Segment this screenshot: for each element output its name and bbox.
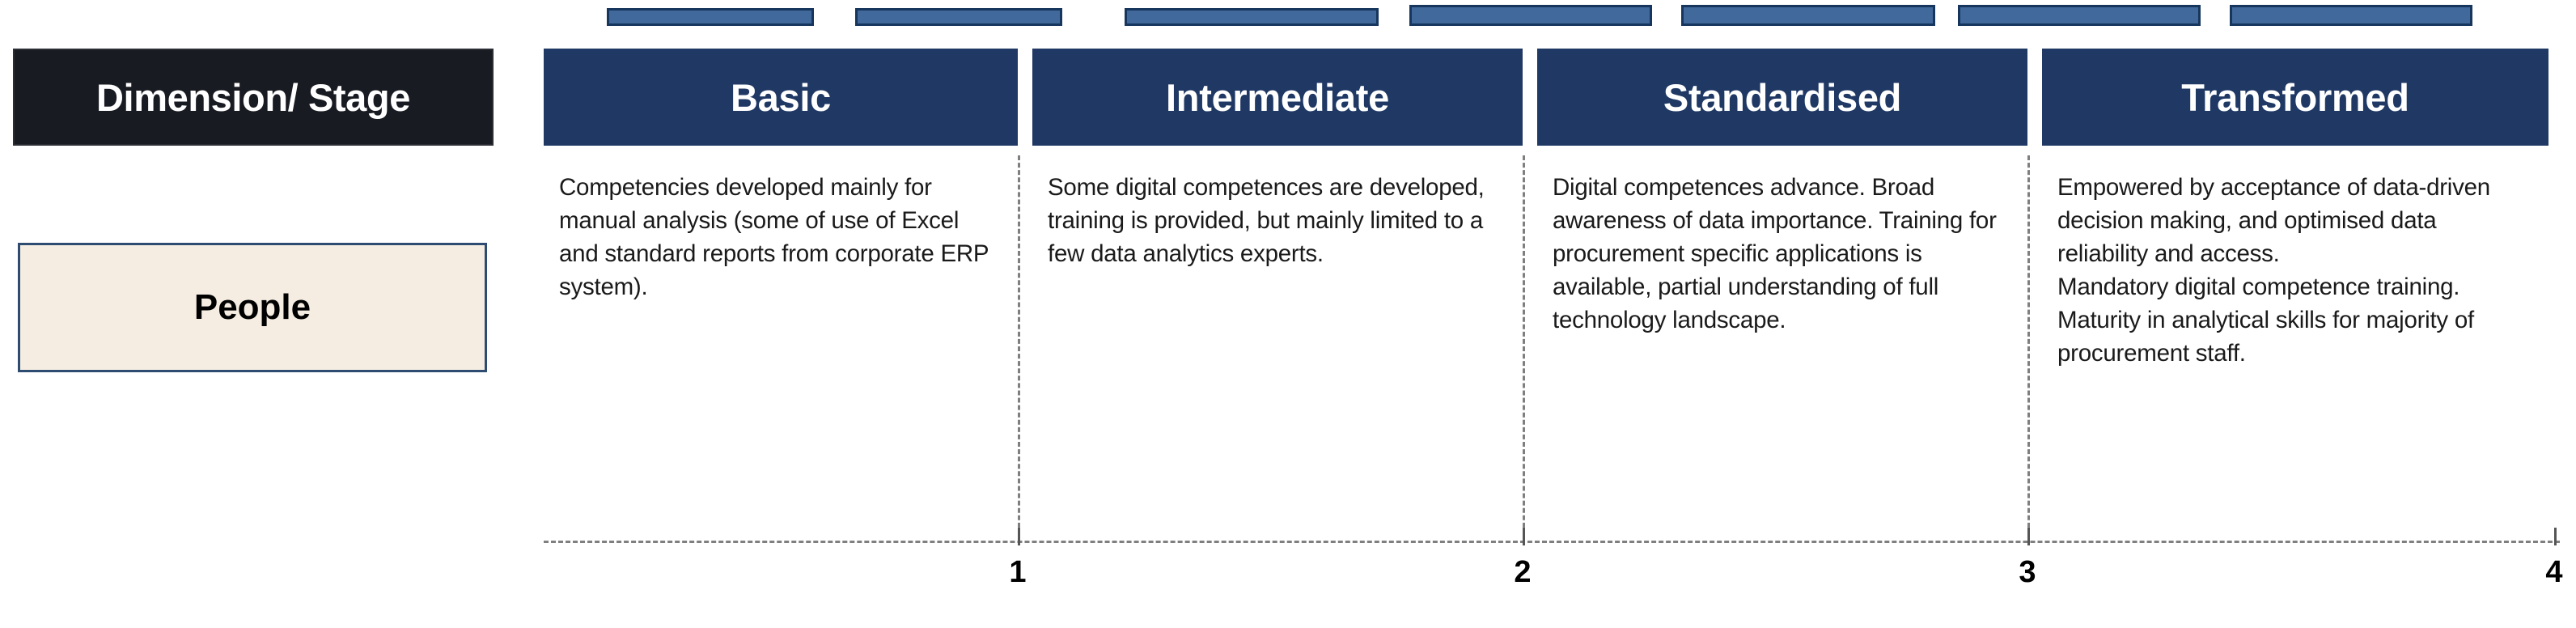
axis-tick-mark [1018, 528, 1020, 545]
dimension-stage-header-label: Dimension/ Stage [96, 75, 410, 120]
progress-bar-segment [855, 8, 1062, 26]
stage-column-divider [2027, 155, 2030, 542]
maturity-matrix: BasicCompetencies developed mainly for m… [544, 49, 2557, 542]
stage-column-intermediate: IntermediateSome digital competences are… [1032, 49, 1523, 542]
axis-tick-mark [1523, 528, 1525, 545]
stage-header-intermediate[interactable]: Intermediate [1032, 49, 1523, 146]
stage-cell-text: Competencies developed mainly for manual… [559, 174, 989, 300]
stage-cell-intermediate: Some digital competences are developed, … [1032, 155, 1523, 542]
dimension-row-people: People [18, 243, 487, 372]
progress-bar-segment [1409, 5, 1652, 26]
dimension-stage-header: Dimension/ Stage [13, 49, 494, 146]
axis-tick-label: 2 [1514, 555, 1531, 590]
stage-header-transformed[interactable]: Transformed [2042, 49, 2548, 146]
stage-cell-text: Digital competences advance. Broad aware… [1553, 174, 1997, 333]
axis-tick-label: 3 [2019, 555, 2036, 590]
progress-bar-segment [607, 8, 814, 26]
stage-cell-basic: Competencies developed mainly for manual… [544, 155, 1018, 542]
stage-cell-standardised: Digital competences advance. Broad aware… [1537, 155, 2027, 542]
stage-column-divider [1523, 155, 1525, 542]
stage-cell-text: Empowered by acceptance of data-driven d… [2057, 174, 2490, 367]
axis-tick-mark [2554, 528, 2557, 545]
stage-header-label: Intermediate [1166, 75, 1389, 120]
stage-header-basic[interactable]: Basic [544, 49, 1018, 146]
stage-column-transformed: TransformedEmpowered by acceptance of da… [2042, 49, 2548, 542]
progress-bar-strip [0, 0, 2576, 32]
matrix-bottom-divider [544, 541, 2560, 543]
axis-tick-label: 4 [2545, 555, 2562, 590]
stage-cell-text: Some digital competences are developed, … [1048, 174, 1485, 267]
stage-column-basic: BasicCompetencies developed mainly for m… [544, 49, 1018, 542]
stage-header-standardised[interactable]: Standardised [1537, 49, 2027, 146]
stage-column-divider [1018, 155, 1020, 542]
stage-cell-transformed: Empowered by acceptance of data-driven d… [2042, 155, 2548, 542]
progress-bar-segment [2230, 5, 2472, 26]
axis-tick-label: 1 [1009, 555, 1026, 590]
stage-header-label: Transformed [2181, 75, 2409, 120]
progress-bar-segment [1958, 5, 2201, 26]
dimension-row-people-label: People [194, 287, 311, 328]
stage-column-standardised: StandardisedDigital competences advance.… [1537, 49, 2027, 542]
progress-bar-segment [1125, 8, 1379, 26]
axis-tick-mark [2027, 528, 2030, 545]
progress-bar-segment [1681, 5, 1935, 26]
stage-header-label: Basic [731, 75, 831, 120]
stage-header-label: Standardised [1663, 75, 1901, 120]
